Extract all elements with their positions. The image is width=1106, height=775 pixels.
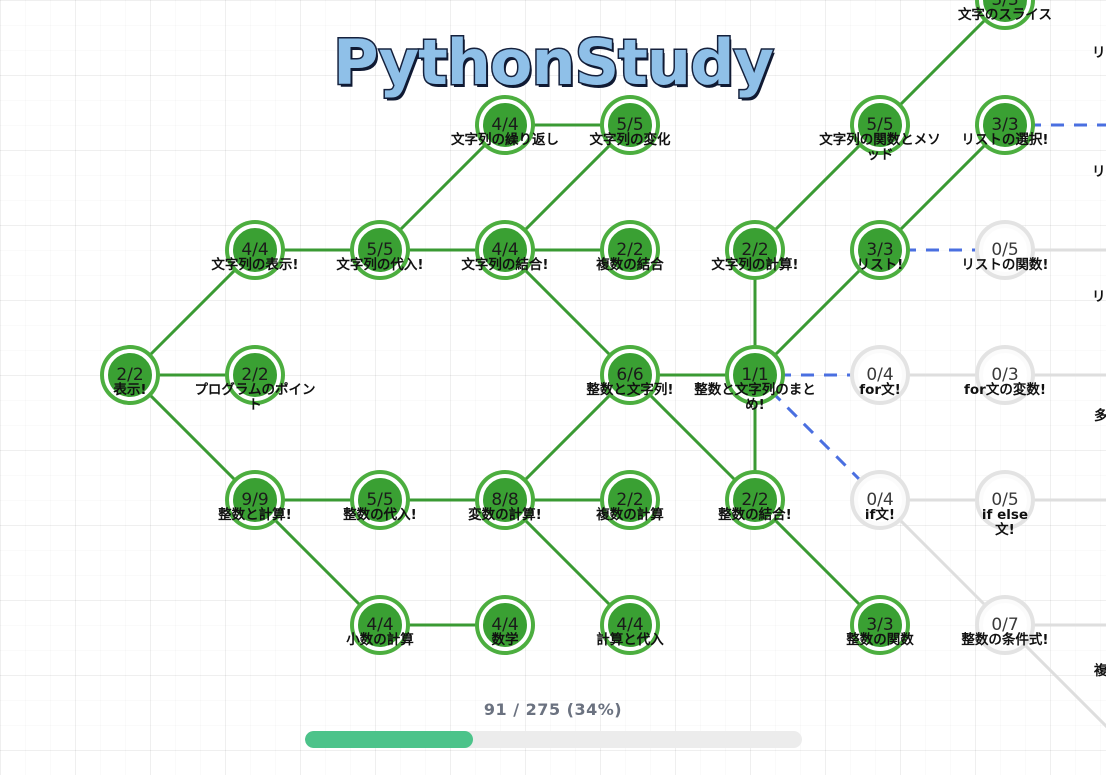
skill-node-progress: 0/4	[866, 367, 893, 384]
skill-node-label: 整数と計算!	[191, 508, 319, 523]
skill-node-progress: 5/5	[366, 242, 393, 259]
skill-node-progress: 0/4	[866, 492, 893, 509]
skill-node-progress: 4/4	[366, 617, 393, 634]
skill-node-label: if文!	[816, 508, 944, 523]
skill-node-list-func[interactable]: 0/5リストの関数!	[979, 224, 1031, 276]
skill-node-str-change[interactable]: 5/5文字列の変化	[604, 99, 656, 151]
skill-node-label: for文の変数!	[941, 383, 1069, 398]
skill-node-int-func[interactable]: 3/3整数の関数	[854, 599, 906, 651]
truncated-label-p1: リス	[1092, 41, 1106, 61]
skill-node-label: 複数の計算	[566, 508, 694, 523]
skill-node-label: 計算と代入	[566, 633, 694, 648]
skill-node-progress: 4/4	[491, 617, 518, 634]
skill-node-label: 小数の計算	[316, 633, 444, 648]
skill-node-for-var[interactable]: 0/3for文の変数!	[979, 349, 1031, 401]
skill-node-progress: 4/4	[491, 242, 518, 259]
skill-node-label: 文字列の結合!	[441, 258, 569, 273]
truncated-label-p4: 多数	[1094, 404, 1106, 424]
skill-node-progress: 2/2	[116, 367, 143, 384]
skill-node-list[interactable]: 3/3リスト!	[854, 224, 906, 276]
skill-node-math[interactable]: 4/4数学	[479, 599, 531, 651]
skill-node-progress: 5/5	[616, 117, 643, 134]
skill-node-str-display[interactable]: 4/4文字列の表示!	[229, 224, 281, 276]
skill-node-int-str-sum[interactable]: 1/1整数と文字列のまとめ!	[729, 349, 781, 401]
skill-node-label: 整数と文字列!	[566, 383, 694, 398]
skill-node-label: 整数の結合!	[691, 508, 819, 523]
skill-node-label: リストの選択!	[941, 133, 1069, 148]
skill-node-progress: 5/5	[366, 492, 393, 509]
skill-node-label: 文字列の計算!	[691, 258, 819, 273]
skill-node-progress: 2/2	[616, 242, 643, 259]
skill-node-progress: 2/2	[741, 242, 768, 259]
skill-node-label: 複数の結合	[566, 258, 694, 273]
skill-node-int-concat[interactable]: 2/2整数の結合!	[729, 474, 781, 526]
skill-node-hyouji[interactable]: 2/2表示!	[104, 349, 156, 401]
skill-node-str-assign[interactable]: 5/5文字列の代入!	[354, 224, 406, 276]
skill-node-progress: 9/9	[241, 492, 268, 509]
progress-bar-fill	[305, 731, 474, 748]
skill-node-label: 整数の代入!	[316, 508, 444, 523]
skill-node-str-funcs[interactable]: 5/5文字列の関数とメソッド	[854, 99, 906, 151]
skill-node-label: プログラムのポイント	[191, 383, 319, 413]
skill-node-label: 文字列の繰り返し	[441, 133, 569, 148]
skill-node-progress: 2/2	[741, 492, 768, 509]
skill-node-str-compute[interactable]: 2/2文字列の計算!	[729, 224, 781, 276]
skill-node-progress: 0/5	[991, 242, 1018, 259]
truncated-label-p2: リス	[1092, 160, 1106, 180]
skill-node-label: 文字列の変化	[566, 133, 694, 148]
skill-node-var-calc[interactable]: 8/8変数の計算!	[479, 474, 531, 526]
skill-node-label: 整数の条件式!	[941, 633, 1069, 648]
skill-node-label: リスト!	[816, 258, 944, 273]
skill-node-label: 整数と文字列のまとめ!	[691, 383, 819, 413]
skill-node-progress: 4/4	[616, 617, 643, 634]
skill-node-label: リストの関数!	[941, 258, 1069, 273]
skill-node-label: 数学	[441, 633, 569, 648]
skill-node-for-stmt[interactable]: 0/4for文!	[854, 349, 906, 401]
skill-node-label: 整数の関数	[816, 633, 944, 648]
skill-node-int-calc[interactable]: 9/9整数と計算!	[229, 474, 281, 526]
skill-node-label: 文字列の代入!	[316, 258, 444, 273]
progress-section: 91 / 275 (34%)	[0, 700, 1106, 748]
skill-node-program-point[interactable]: 2/2プログラムのポイント	[229, 349, 281, 401]
truncated-label-p5: 複数	[1094, 659, 1106, 679]
skill-node-int-assign[interactable]: 5/5整数の代入!	[354, 474, 406, 526]
skill-node-progress: 1/1	[741, 367, 768, 384]
progress-text: 91 / 275 (34%)	[0, 700, 1106, 719]
skill-node-progress: 8/8	[491, 492, 518, 509]
skill-node-label: 文字列の表示!	[191, 258, 319, 273]
skill-node-int-str[interactable]: 6/6整数と文字列!	[604, 349, 656, 401]
skill-node-label: if else 文!	[941, 508, 1069, 538]
skill-node-progress: 2/2	[241, 367, 268, 384]
skill-node-multi-calc[interactable]: 2/2複数の計算	[604, 474, 656, 526]
skill-node-label: for文!	[816, 383, 944, 398]
skill-node-progress: 0/5	[991, 492, 1018, 509]
skill-node-calc-assign[interactable]: 4/4計算と代入	[604, 599, 656, 651]
app-title-text: PythonStudy	[333, 26, 773, 99]
skill-node-label: 文字のスライス	[941, 8, 1069, 23]
skill-node-float-calc[interactable]: 4/4小数の計算	[354, 599, 406, 651]
page-title: PythonStudy	[0, 26, 1106, 99]
skill-node-label: 文字列の関数とメソッド	[816, 133, 944, 163]
skill-node-progress: 3/3	[991, 117, 1018, 134]
skill-node-progress: 0/7	[991, 617, 1018, 634]
progress-bar-track[interactable]	[305, 731, 802, 748]
skill-node-if-stmt[interactable]: 0/4if文!	[854, 474, 906, 526]
skill-node-progress: 6/6	[616, 367, 643, 384]
skill-node-str-repeat[interactable]: 4/4文字列の繰り返し	[479, 99, 531, 151]
skill-node-progress: 4/4	[491, 117, 518, 134]
skill-node-str-concat[interactable]: 4/4文字列の結合!	[479, 224, 531, 276]
skill-node-label: 表示!	[66, 383, 194, 398]
skill-node-progress: 2/2	[616, 492, 643, 509]
skill-tree-canvas[interactable]: PythonStudy 2/2表示!2/2プログラムのポイント4/4文字列の表示…	[0, 0, 1106, 775]
truncated-label-p3: リス	[1092, 285, 1106, 305]
skill-node-progress: 0/3	[991, 367, 1018, 384]
skill-node-label: 変数の計算!	[441, 508, 569, 523]
skill-node-progress: 3/3	[866, 242, 893, 259]
skill-node-if-else[interactable]: 0/5if else 文!	[979, 474, 1031, 526]
skill-node-int-cond[interactable]: 0/7整数の条件式!	[979, 599, 1031, 651]
skill-node-progress: 5/5	[866, 117, 893, 134]
skill-node-str-slice[interactable]: 3/3文字のスライス	[979, 0, 1031, 26]
skill-node-multi-concat[interactable]: 2/2複数の結合	[604, 224, 656, 276]
skill-node-progress: 3/3	[866, 617, 893, 634]
skill-node-progress: 4/4	[241, 242, 268, 259]
skill-node-list-select[interactable]: 3/3リストの選択!	[979, 99, 1031, 151]
